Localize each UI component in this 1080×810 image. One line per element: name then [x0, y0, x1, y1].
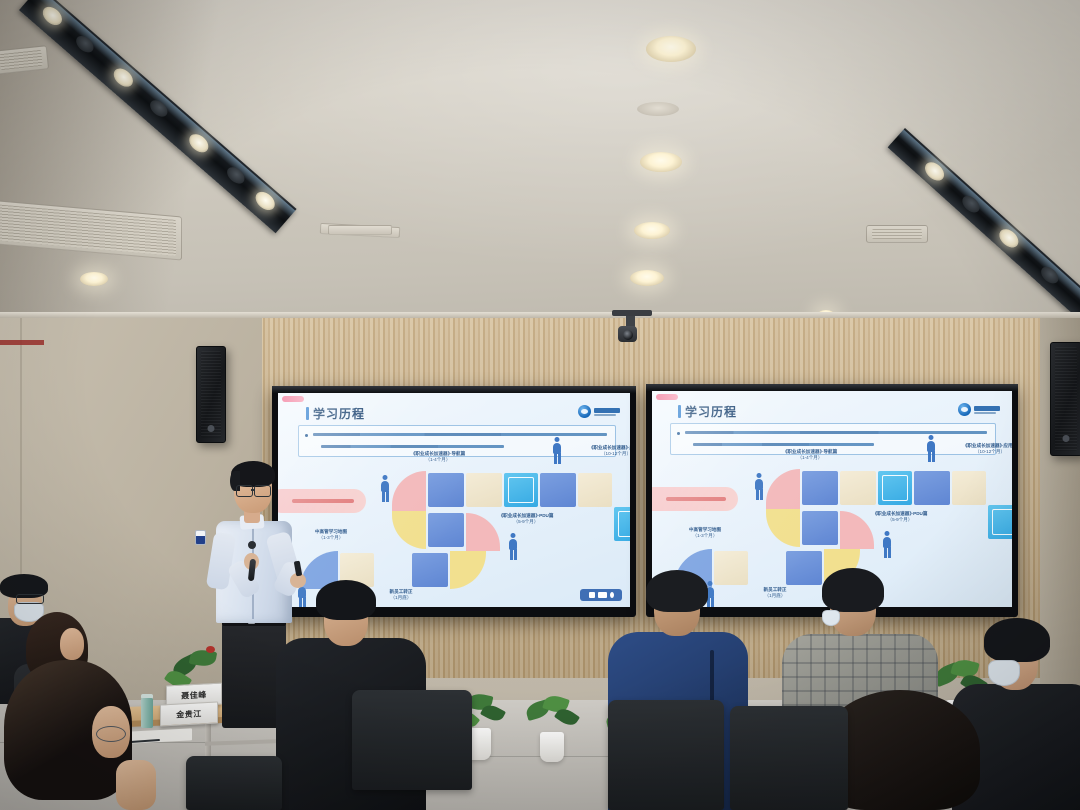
recessed-downlight: [630, 270, 664, 286]
roadmap-stage-label-1: 《职业成长加速器》·导航篇 （1-4个月）: [388, 451, 488, 462]
audience-hair: [316, 580, 376, 620]
stage-sub-text: （1-4个月）: [797, 455, 822, 460]
plant-pot-2: [540, 732, 564, 762]
roadmap-tile-blue-1: [802, 471, 838, 505]
track-fixture: [959, 193, 983, 216]
roadmap-tile-blue-2: [914, 471, 950, 505]
display-bezel: [272, 386, 636, 393]
chair-left[interactable]: [352, 690, 472, 790]
roadmap-person-icon-1: [378, 475, 392, 503]
recessed-downlight: [646, 36, 696, 62]
roadmap-corner-pink-1: [766, 469, 800, 509]
audience-glasses: [16, 594, 44, 604]
roadmap-person-icon-3: [506, 533, 520, 561]
slide-corner-tag: [656, 394, 678, 400]
roadmap-tile-icon-1: [504, 473, 538, 507]
presenter-badge: [195, 530, 206, 545]
bullet-marker: [305, 434, 308, 437]
stage-sub-text: （10-12个月）: [601, 451, 630, 456]
roadmap-start-pill: [652, 487, 738, 511]
audience-hand: [116, 760, 156, 810]
control-icon-square[interactable]: [589, 592, 595, 598]
vent-grill: [0, 50, 43, 70]
stage-sub-text: （1月底）: [765, 593, 786, 598]
roadmap-stage-label-2: 《职业成长加速器》·应用篇 （10-12个月）: [566, 445, 630, 456]
conference-room-photo: 学习历程: [0, 0, 1080, 810]
microphone-head: [248, 541, 256, 549]
left-wall-speaker: [196, 346, 226, 443]
roadmap-person-icon-2: [550, 437, 564, 465]
track-spotlight: [996, 225, 1022, 251]
roadmap-stage-label-3: 《职业成长加速器》·PDU篇 （5-9个月）: [476, 513, 576, 524]
recessed-downlight: [80, 272, 108, 286]
roadmap-tile-cream-2: [578, 473, 612, 507]
stage-sub-text: （5-9个月）: [513, 519, 538, 524]
speaker-driver: [1063, 435, 1070, 442]
audience-hair: [822, 568, 884, 612]
roadmap-person-icon-1: [752, 473, 766, 501]
roadmap-tile-icon-2: [988, 505, 1012, 539]
roadmap-tile-blue-3: [802, 511, 838, 545]
display-bezel: [646, 384, 1018, 391]
stage-sub-text: （5-9个月）: [887, 517, 912, 522]
camera-lens-icon: [623, 330, 633, 340]
logo-wordmark: [594, 408, 620, 416]
roadmap-stage-label-3: 《职业成长加速器》·PDU篇 （5-9个月）: [850, 511, 950, 522]
company-logo: [578, 405, 620, 418]
slide-title-row: 学习历程: [306, 405, 365, 422]
roadmap-corner-pink-1: [392, 471, 426, 511]
stage-sub-text: （10-12个月）: [975, 449, 1005, 454]
control-icon-dot[interactable]: [610, 592, 614, 598]
glasses-bridge: [251, 489, 254, 491]
vent-grill: [872, 229, 922, 239]
recessed-downlight-off: [637, 102, 679, 116]
recessed-downlight: [640, 152, 682, 172]
bullet-text-line-1: [685, 431, 987, 434]
roadmap-stage-label-4: 中高管学习地图 （1-3个月）: [660, 527, 750, 538]
company-logo: [958, 403, 1000, 416]
roadmap-stage-label-1: 《职业成长加速器》·导航篇 （1-4个月）: [760, 449, 860, 460]
emergency-strip: [0, 340, 44, 345]
track-spotlight: [921, 158, 947, 184]
logo-name-line: [974, 406, 1000, 411]
roadmap-corner-yellow-2: [450, 551, 486, 589]
slide-corner-tag: [282, 396, 304, 402]
chair-right[interactable]: [730, 706, 848, 810]
audience-head: [60, 628, 84, 660]
logo-mark-icon: [578, 405, 591, 418]
stage-sub-text: （1-3个月）: [692, 533, 717, 538]
audience-glasses: [96, 726, 126, 742]
recessed-downlight: [634, 222, 670, 239]
roadmap-tile-icon-1: [878, 471, 912, 505]
stage-sub-text: （1-4个月）: [425, 457, 450, 462]
presenter-glasses: [254, 485, 271, 497]
audience-front-left-person: [0, 660, 170, 810]
face-mask: [988, 660, 1020, 686]
roadmap-tile-icon-2: [614, 507, 630, 541]
ac-vent-mid-right: [866, 225, 928, 243]
chair-center[interactable]: [608, 700, 724, 810]
logo-name-line: [594, 408, 620, 413]
presentation-clicker[interactable]: [294, 561, 303, 577]
slide-title: 学习历程: [685, 403, 737, 420]
title-accent-bar: [306, 407, 309, 420]
roadmap-start-label: [666, 497, 726, 501]
bullet-text-line-1: [313, 433, 607, 436]
logo-wordmark: [974, 406, 1000, 414]
slide-title: 学习历程: [313, 405, 365, 422]
audience-hair: [984, 618, 1050, 662]
bullet-text-line-2: [693, 443, 874, 446]
track-fixture: [1038, 264, 1062, 287]
logo-sub-line: [974, 412, 996, 414]
roadmap-tile-blue-1: [428, 473, 464, 507]
roadmap-tile-cream-2: [952, 471, 986, 505]
bullet-marker: [677, 432, 680, 435]
audience-hair: [646, 570, 708, 612]
logo-sub-line: [594, 414, 616, 416]
roadmap-corner-yellow-1: [766, 509, 800, 547]
control-icon-rect[interactable]: [598, 592, 607, 598]
chair-far-left[interactable]: [186, 756, 282, 810]
roadmap-stage-label-2: 《职业成长加速器》·应用篇 （10-12个月）: [940, 443, 1012, 454]
speaker-driver: [208, 425, 215, 432]
roadmap-corner-yellow-1: [392, 511, 426, 549]
roadmap-tile-cream-1: [466, 473, 502, 507]
title-accent-bar: [678, 405, 681, 418]
logo-mark-icon: [958, 403, 971, 416]
roadmap-tile-cream-1: [840, 471, 876, 505]
face-mask: [822, 610, 840, 626]
roadmap-person-icon-2: [924, 435, 938, 463]
roadmap-tile-blue-2: [540, 473, 576, 507]
roadmap-tile-blue-3: [428, 513, 464, 547]
right-wall-speaker: [1050, 342, 1080, 456]
slide-title-row: 学习历程: [678, 403, 737, 420]
presenter-glasses: [236, 485, 253, 497]
ac-vent-right: [328, 225, 392, 235]
roadmap-person-icon-3: [880, 531, 894, 559]
bullet-text-line-2: [321, 445, 504, 448]
